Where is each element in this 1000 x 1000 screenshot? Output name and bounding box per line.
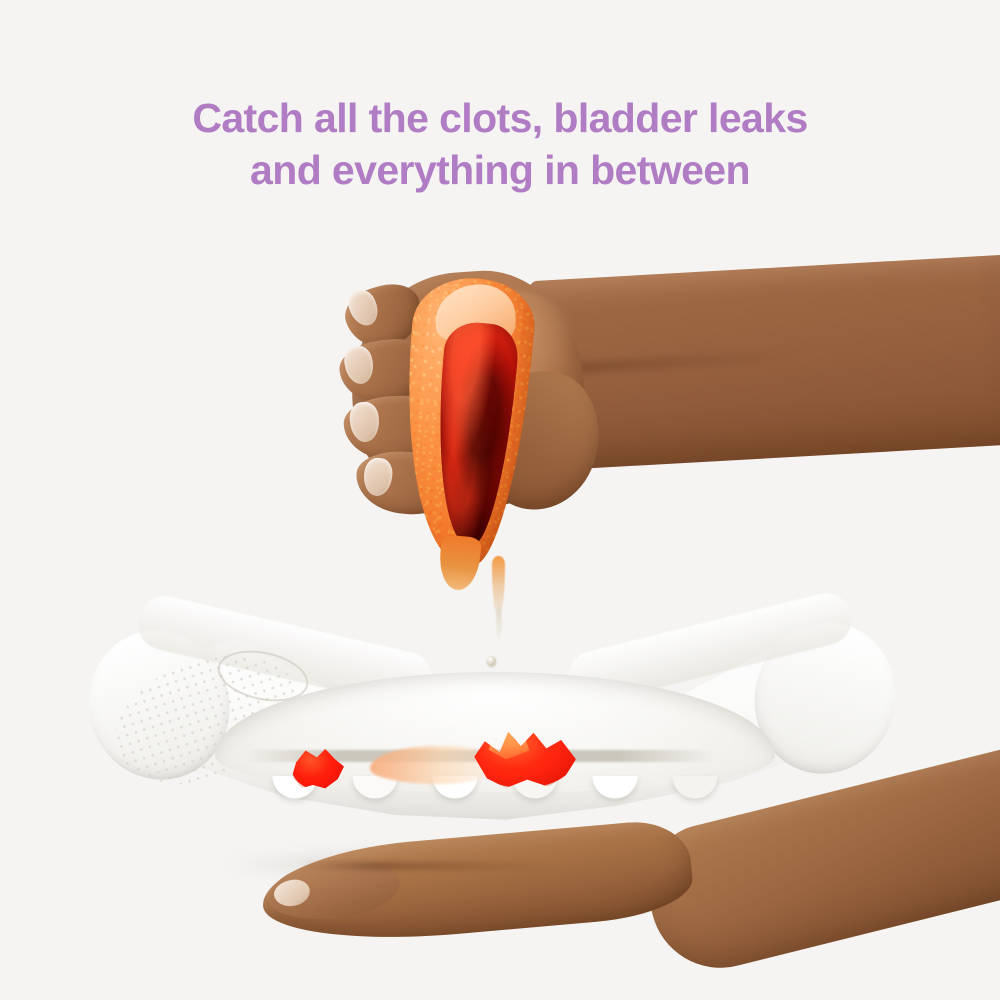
fruit-tip [437,534,482,591]
product-photo [0,0,1000,1000]
banner-stage: Catch all the clots, bladder leaks and e… [0,0,1000,1000]
blood-orange-half [392,273,538,569]
palm-crease [300,862,550,870]
maternity-pad [95,600,885,870]
